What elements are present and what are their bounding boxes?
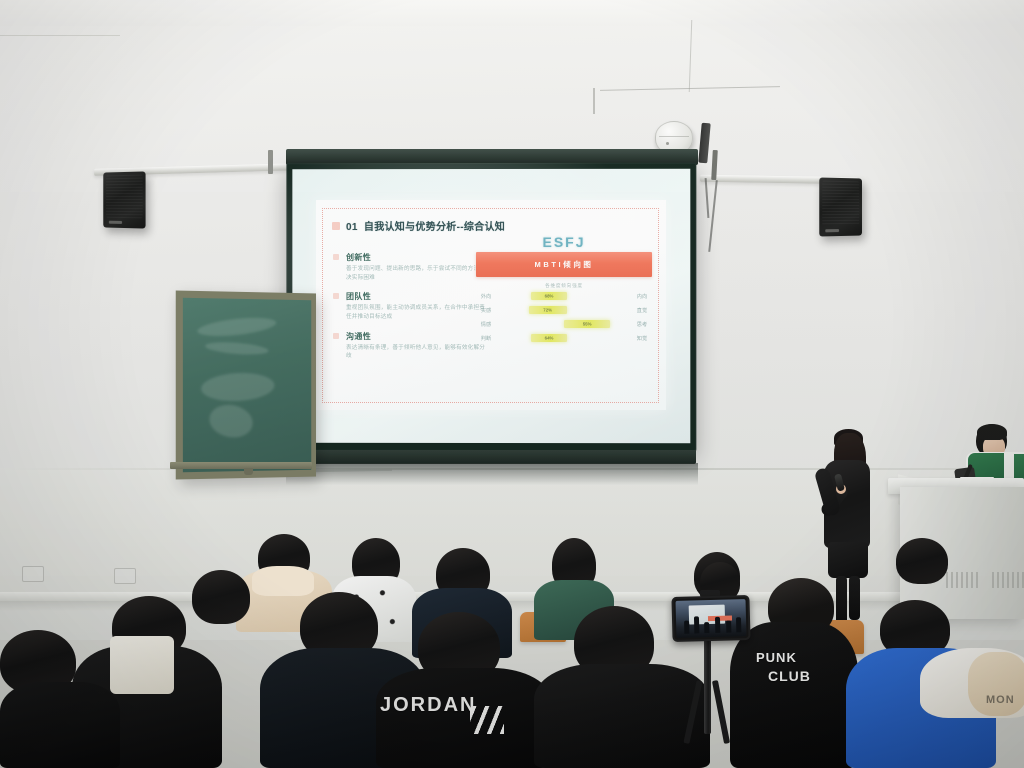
- wall-outlet: [22, 566, 44, 582]
- mbti-type-label: ESFJ: [476, 234, 652, 250]
- title-marker-icon: [332, 222, 340, 230]
- chalk-mark: [205, 340, 269, 356]
- slide-title-text: 自我认知与优势分析--综合认知: [364, 222, 505, 233]
- apparel-stripes-icon: [470, 706, 504, 734]
- bullet-square-icon: [333, 293, 339, 299]
- dimension-row: 情感 55% 思考: [476, 317, 652, 331]
- audience-torso: [534, 664, 710, 768]
- apparel-text-club: CLUB: [768, 668, 811, 684]
- dimension-bar: 68%: [531, 292, 566, 300]
- ap-seam: [659, 136, 689, 137]
- presenter-leg: [849, 576, 860, 620]
- phone-screen-silhouette: [704, 622, 709, 633]
- phone-screen-silhouette: [736, 617, 741, 632]
- slide-title-row: 01 自我认知与优势分析--综合认知: [332, 218, 505, 233]
- dimension-left-label: 外向: [476, 293, 496, 300]
- dimension-value: 55%: [583, 322, 592, 327]
- chalk-tray-peg: [244, 468, 253, 475]
- chalk-mark: [196, 315, 277, 340]
- dimension-value: 64%: [545, 336, 554, 341]
- dimension-right-label: 知觉: [632, 335, 652, 342]
- dimension-left-label: 判断: [476, 335, 496, 342]
- smartphone-recording[interactable]: [671, 595, 750, 642]
- dimension-row: 实感 72% 直觉: [476, 303, 652, 317]
- wall-speaker-right: [819, 177, 862, 236]
- audience-head: [192, 570, 250, 624]
- bullet-square-icon: [333, 333, 339, 339]
- feature-body: 重视团队氛围，能主动协调成员关系，在合作中承担责任并推动目标达成: [346, 304, 486, 321]
- ap-led-icon: [666, 142, 669, 145]
- presenter-skirt: [828, 542, 868, 578]
- feature-heading: 团队性: [346, 291, 486, 302]
- slide-feature-list: 创新性 善于发现问题、提出新的思路，乐于尝试不同的方法解决实际困难 团队性 重视…: [346, 252, 486, 370]
- dimension-value: 68%: [545, 294, 554, 299]
- speaker-badge: [825, 229, 839, 232]
- phone-screen-silhouette: [694, 616, 699, 633]
- lecture-hall-photo: 01 自我认知与优势分析--综合认知 创新性 善于发现问题、提出新的思路，乐于尝…: [0, 0, 1024, 768]
- presentation-slide: 01 自我认知与优势分析--综合认知 创新性 善于发现问题、提出新的思路，乐于尝…: [316, 200, 666, 410]
- tripod-column: [704, 634, 711, 734]
- dimension-track: 55%: [496, 319, 632, 329]
- green-chalkboard: [176, 291, 316, 480]
- wall-outlet: [114, 568, 136, 584]
- speaker-grille-icon: [822, 181, 859, 227]
- screen-bottom-bar: [286, 450, 696, 464]
- ceiling-strip: [0, 0, 1024, 26]
- feature-body: 表达清晰有条理，善于倾听他人意见，能够有效化解分歧: [346, 344, 486, 361]
- slide-title-number: 01: [346, 222, 358, 233]
- presenter-leg: [836, 576, 847, 624]
- dimension-right-label: 思考: [632, 321, 652, 328]
- feature-heading: 创新性: [346, 252, 486, 263]
- chalk-tray: [170, 462, 312, 469]
- dimension-row: 外向 68% 内向: [476, 289, 652, 303]
- audience-torso: [376, 668, 552, 768]
- phone-screen-silhouette: [684, 621, 689, 634]
- audience-torso: [730, 622, 858, 768]
- dimension-value: 72%: [543, 308, 552, 313]
- phone-screen[interactable]: [676, 599, 747, 638]
- dimension-track: 64%: [496, 333, 632, 343]
- feature-item: 创新性 善于发现问题、提出新的思路，乐于尝试不同的方法解决实际困难: [346, 252, 486, 282]
- bullet-square-icon: [333, 254, 339, 260]
- apparel-text-mon: MON: [986, 694, 1015, 706]
- podium-vent-icon: [946, 572, 980, 588]
- wall-speaker-left: [103, 171, 145, 228]
- mount-bracket: [268, 150, 273, 174]
- audience-hood: [968, 652, 1024, 716]
- mbti-banner: MBTI倾向图: [476, 252, 652, 277]
- audience-torso: [0, 682, 120, 768]
- screen-shadow: [286, 463, 698, 485]
- dimension-row: 判断 64% 知觉: [476, 331, 652, 345]
- feature-item: 团队性 重视团队氛围，能主动协调成员关系，在合作中承担责任并推动目标达成: [346, 291, 486, 321]
- slide-chart-column: ESFJ MBTI倾向图 各维度倾向强度 外向 68% 内向 实感 72%: [476, 234, 652, 345]
- dimension-track: 68%: [496, 291, 632, 301]
- chalk-mark: [200, 371, 275, 403]
- slide-title: 01 自我认知与优势分析--综合认知: [346, 218, 505, 233]
- podium-vent-icon: [992, 572, 1024, 588]
- wall-crack: [593, 88, 595, 114]
- dimension-left-label: 情感: [476, 321, 496, 328]
- dimension-bar: 72%: [529, 306, 567, 314]
- dimension-left-label: 实感: [476, 307, 496, 314]
- phone-screen-silhouette: [715, 617, 720, 633]
- seated-staff-hair: [977, 424, 1007, 440]
- dimension-bar: 64%: [531, 334, 566, 342]
- feature-heading: 沟通性: [346, 331, 486, 342]
- phone-screen-silhouette: [726, 620, 731, 632]
- dimension-bar: 55%: [564, 320, 610, 328]
- audience-tote-bag: [110, 636, 174, 694]
- mbti-banner-label: MBTI倾向图: [534, 259, 593, 270]
- wall-crack: [0, 35, 120, 36]
- speaker-grille-icon: [106, 175, 143, 219]
- dimension-right-label: 直觉: [632, 307, 652, 314]
- audience-hood: [252, 566, 314, 596]
- feature-item: 沟通性 表达清晰有条理，善于倾听他人意见，能够有效化解分歧: [346, 331, 486, 361]
- dimension-right-label: 内向: [632, 293, 652, 300]
- apparel-text-punk: PUNK: [756, 650, 797, 665]
- dimension-track: 72%: [496, 305, 632, 315]
- chalk-mark: [206, 401, 255, 441]
- speaker-badge: [109, 221, 122, 224]
- audience-head: [896, 538, 948, 584]
- feature-body: 善于发现问题、提出新的思路，乐于尝试不同的方法解决实际困难: [346, 265, 486, 282]
- apparel-text-jordan: JORDAN: [380, 694, 476, 717]
